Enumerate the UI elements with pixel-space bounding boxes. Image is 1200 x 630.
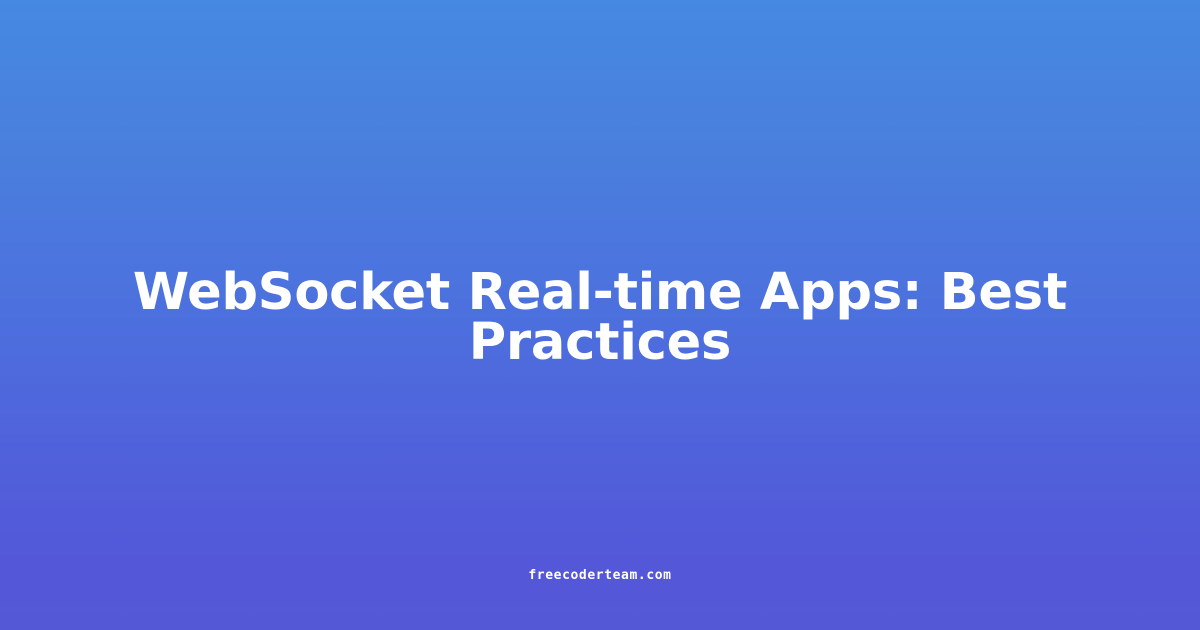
social-share-card: WebSocket Real-time Apps: Best Practices… bbox=[0, 0, 1200, 630]
page-title: WebSocket Real-time Apps: Best Practices bbox=[0, 268, 1200, 368]
site-domain-label: freecoderteam.com bbox=[0, 568, 1200, 584]
